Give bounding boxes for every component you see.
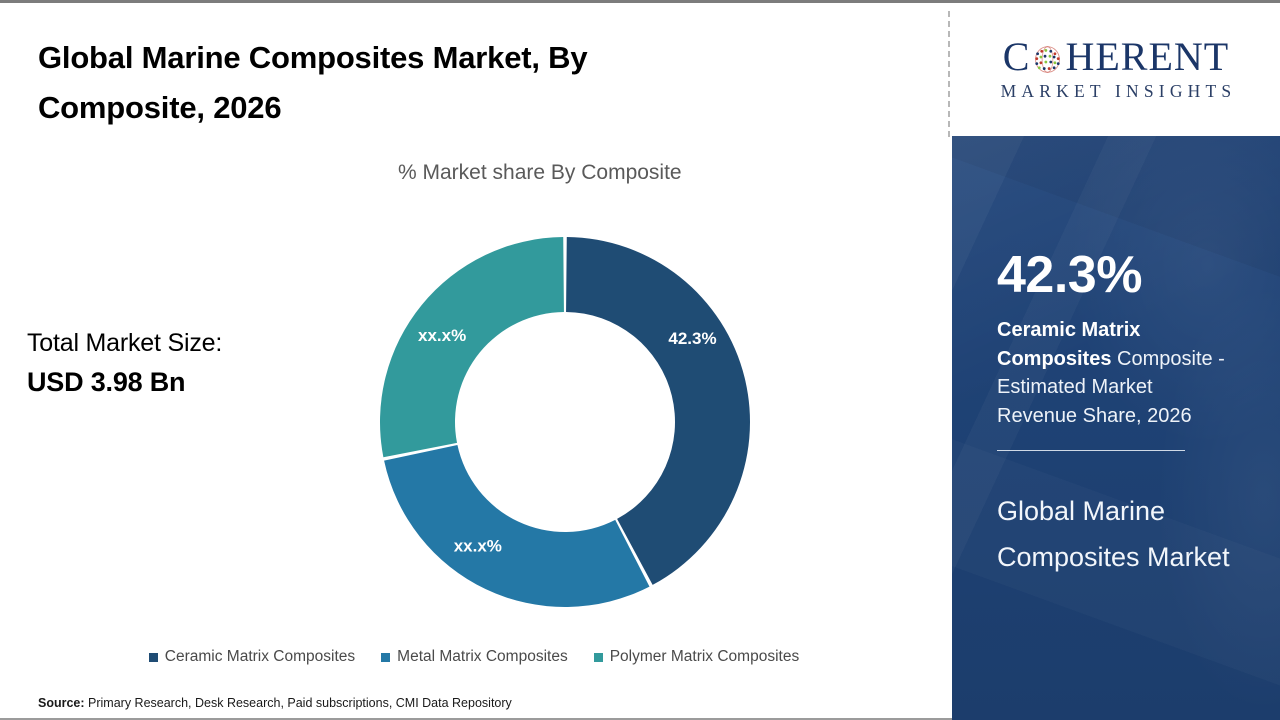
vertical-dashed-divider bbox=[948, 11, 950, 137]
stat-value: 42.3% bbox=[997, 249, 1236, 301]
total-market-size-value: USD 3.98 Bn bbox=[27, 363, 327, 402]
chart-subtitle: % Market share By Composite bbox=[398, 161, 682, 185]
legend-label: Metal Matrix Composites bbox=[397, 648, 568, 666]
legend-item[interactable]: Ceramic Matrix Composites bbox=[149, 648, 355, 666]
globe-dots-icon bbox=[1031, 43, 1064, 76]
panel-divider-rule bbox=[997, 450, 1185, 451]
donut-slice[interactable] bbox=[384, 445, 649, 607]
panel-content: 42.3% Ceramic Matrix Composites Composit… bbox=[952, 136, 1280, 580]
donut-chart-svg: 42.3%xx.x%xx.x% bbox=[375, 228, 755, 616]
total-market-size-label: Total Market Size: bbox=[27, 325, 327, 363]
donut-chart: 42.3%xx.x%xx.x% bbox=[375, 228, 755, 616]
chart-area: Global Marine Composites Market, By Comp… bbox=[0, 3, 948, 718]
logo-tagline: MARKET INSIGHTS bbox=[996, 81, 1237, 102]
donut-slice-label: xx.x% bbox=[454, 537, 502, 556]
source-note: Source: Primary Research, Desk Research,… bbox=[38, 696, 512, 710]
legend-swatch-icon bbox=[381, 653, 390, 662]
legend-item[interactable]: Polymer Matrix Composites bbox=[594, 648, 800, 666]
highlight-panel: 42.3% Ceramic Matrix Composites Composit… bbox=[952, 136, 1280, 720]
page-title: Global Marine Composites Market, By Comp… bbox=[38, 33, 738, 133]
brand-logo: C bbox=[952, 3, 1280, 136]
source-text: Primary Research, Desk Research, Paid su… bbox=[85, 696, 512, 710]
infographic-page: Global Marine Composites Market, By Comp… bbox=[0, 0, 1280, 720]
legend-swatch-icon bbox=[594, 653, 603, 662]
panel-market-name: Global Marine Composites Market bbox=[997, 489, 1236, 580]
donut-slice-label: 42.3% bbox=[668, 329, 716, 348]
chart-legend: Ceramic Matrix CompositesMetal Matrix Co… bbox=[0, 648, 948, 666]
logo-letter-c: C bbox=[1003, 37, 1031, 77]
source-label: Source: bbox=[38, 696, 85, 710]
donut-slice-label: xx.x% bbox=[418, 326, 466, 345]
logo-letters-herent: HERENT bbox=[1065, 37, 1229, 77]
stat-description: Ceramic Matrix Composites Composite - Es… bbox=[997, 316, 1236, 430]
donut-slices bbox=[380, 237, 750, 607]
legend-swatch-icon bbox=[149, 653, 158, 662]
legend-label: Polymer Matrix Composites bbox=[610, 648, 800, 666]
logo-wordmark: C bbox=[1003, 37, 1229, 77]
legend-item[interactable]: Metal Matrix Composites bbox=[381, 648, 568, 666]
legend-label: Ceramic Matrix Composites bbox=[165, 648, 355, 666]
total-market-size-block: Total Market Size: USD 3.98 Bn bbox=[27, 325, 327, 402]
donut-slice[interactable] bbox=[380, 237, 564, 457]
